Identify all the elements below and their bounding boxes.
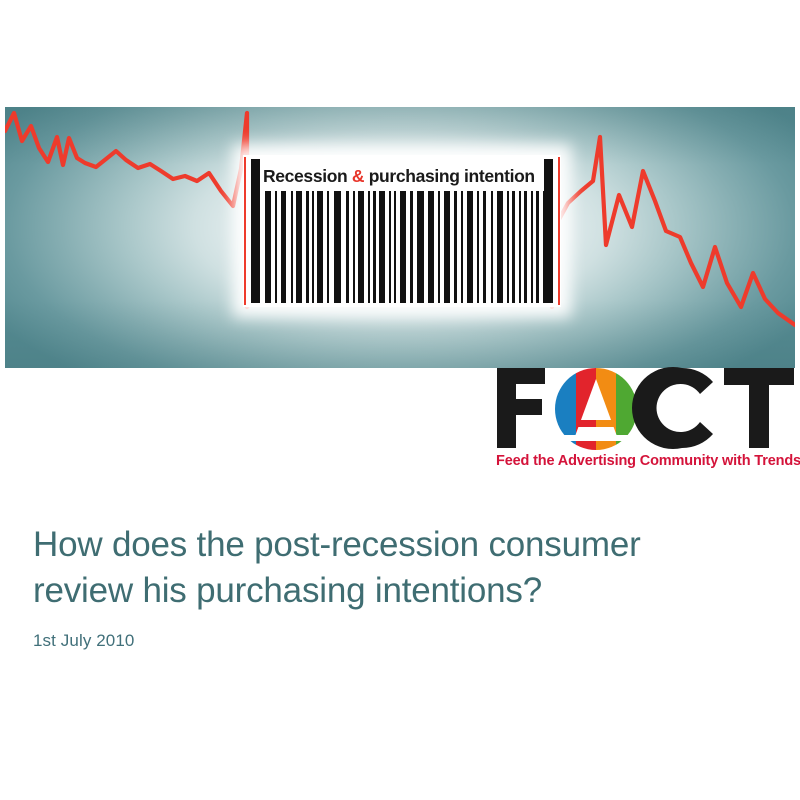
barcode-title: Recession & purchasing intention xyxy=(263,163,545,189)
fact-tagline: Feed the Advertising Community with Tren… xyxy=(496,453,798,469)
recession-banner: Recession & purchasing intention xyxy=(5,107,795,368)
barcode-edge-left xyxy=(244,157,246,305)
slide-canvas: Recession & purchasing intention xyxy=(0,0,800,800)
barcode-panel: Recession & purchasing intention xyxy=(243,155,561,307)
trend-line-right xyxy=(552,137,795,325)
fact-logo: Feed the Advertising Community with Tren… xyxy=(492,365,798,477)
barcode-bars xyxy=(251,191,553,303)
barcode-title-prefix: Recession xyxy=(263,166,352,186)
fact-wordmark xyxy=(492,365,798,451)
letter-a-colored-circle-icon xyxy=(555,365,638,451)
trend-line-left xyxy=(5,113,247,307)
barcode-title-ampersand: & xyxy=(352,166,364,186)
barcode-edge-right xyxy=(558,157,560,305)
letter-c-icon xyxy=(632,367,713,449)
headline-block: How does the post-recession consumer rev… xyxy=(33,522,763,651)
barcode-title-suffix: purchasing intention xyxy=(364,166,535,186)
presentation-date: 1st July 2010 xyxy=(33,631,763,651)
letter-t-icon xyxy=(724,368,794,448)
letter-f-icon xyxy=(497,368,545,448)
page-title: How does the post-recession consumer rev… xyxy=(33,522,763,614)
